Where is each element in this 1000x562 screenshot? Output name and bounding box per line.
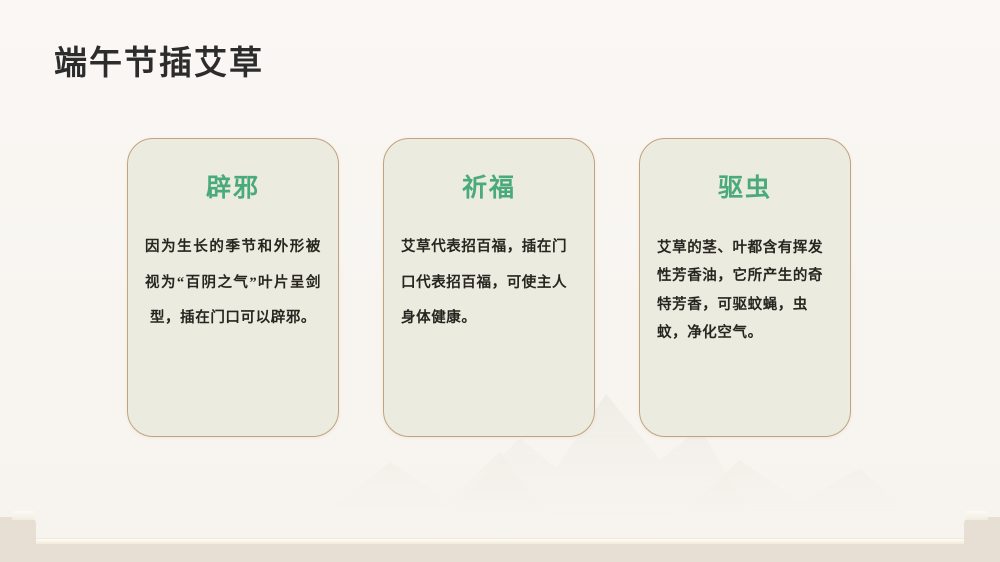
page-title: 端午节插艾草 [54,36,264,84]
card-body-quchong: 艾草的茎、叶都含有挥发性芳香油，它所产生的奇特芳香，可驱蚊蝇，虫蚊，净化空气。 [657,234,833,347]
info-card-quchong[interactable]: 驱虫 艾草的茎、叶都含有挥发性芳香油，它所产生的奇特芳香，可驱蚊蝇，虫蚊，净化空… [639,138,851,437]
card-title-bixie: 辟邪 [128,168,338,204]
card-row: 辟邪 因为生长的季节和外形被视为“百阴之气”叶片呈剑型，插在门口可以辟邪。 祈福… [0,138,1000,438]
slide-canvas: 端午节插艾草 辟邪 因为生长的季节和外形被视为“百阴之气”叶片呈剑型，插在门口可… [0,0,1000,562]
card-title-quchong: 驱虫 [640,168,850,204]
frame-step-left [0,517,36,562]
frame-step-right [964,517,1000,562]
card-body-qifu: 艾草代表招百福，插在门口代表招百福，可使主人身体健康。 [401,230,577,337]
frame-notch-right [966,511,988,520]
frame-band [0,544,1000,562]
info-card-qifu[interactable]: 祈福 艾草代表招百福，插在门口代表招百福，可使主人身体健康。 [383,138,595,437]
card-body-bixie: 因为生长的季节和外形被视为“百阴之气”叶片呈剑型，插在门口可以辟邪。 [145,230,321,337]
card-title-qifu: 祈福 [384,168,594,204]
info-card-bixie[interactable]: 辟邪 因为生长的季节和外形被视为“百阴之气”叶片呈剑型，插在门口可以辟邪。 [127,138,339,437]
frame-notch-left [12,511,34,520]
